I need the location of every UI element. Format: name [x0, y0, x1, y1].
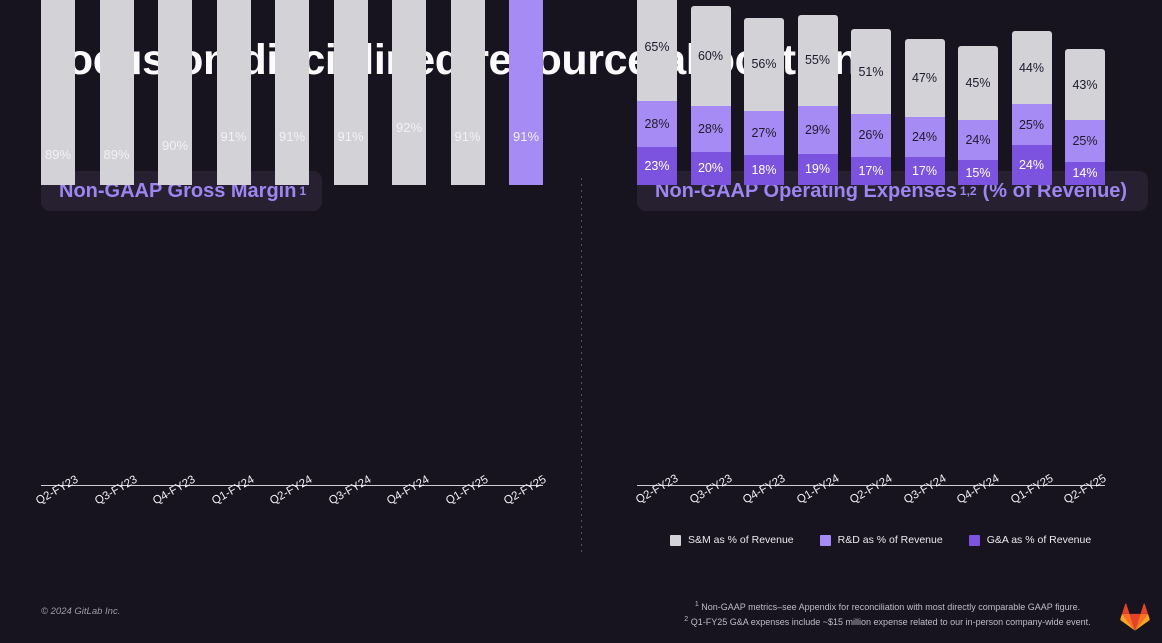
operating-expenses-segment: 24%	[1012, 145, 1052, 185]
operating-expenses-x-label: Q1-FY24	[795, 473, 841, 507]
operating-expenses-segment-value: 43%	[1072, 78, 1097, 92]
gross-margin-x-label: Q4-FY24	[385, 474, 431, 508]
operating-expenses-stacked-bar: 24%25%44%	[1012, 31, 1052, 185]
legend-item: G&A as % of Revenue	[969, 534, 1091, 546]
gross-margin-bar	[334, 0, 368, 185]
operating-expenses-segment-value: 17%	[858, 164, 883, 178]
footnote-text: Q1-FY25 G&A expenses include ~$15 millio…	[688, 617, 1090, 627]
right-chart-header-superscript: 1,2	[960, 184, 977, 198]
operating-expenses-segment: 17%	[851, 157, 891, 185]
gross-margin-bar-value: 91%	[438, 129, 498, 144]
operating-expenses-segment: 24%	[905, 117, 945, 157]
gitlab-tanuki-logo-icon	[1120, 603, 1150, 631]
gross-margin-x-label: Q2-FY23	[34, 474, 80, 508]
operating-expenses-segment-value: 25%	[1019, 118, 1044, 132]
gross-margin-x-label: Q2-FY24	[268, 474, 314, 508]
operating-expenses-x-label: Q1-FY25	[1009, 473, 1055, 507]
operating-expenses-segment-value: 28%	[644, 117, 669, 131]
operating-expenses-segment-value: 26%	[858, 128, 883, 142]
operating-expenses-segment: 51%	[851, 29, 891, 113]
footnote: 2 Q1-FY25 G&A expenses include ~$15 mill…	[660, 615, 1115, 630]
operating-expenses-stacked-bar: 23%28%65%	[637, 0, 677, 185]
operating-expenses-segment: 19%	[798, 154, 838, 185]
legend-item-label: S&M as % of Revenue	[688, 534, 794, 546]
operating-expenses-segment: 24%	[958, 120, 998, 160]
operating-expenses-segment-value: 14%	[1072, 166, 1097, 180]
operating-expenses-segment-value: 29%	[805, 123, 830, 137]
operating-expenses-segment: 25%	[1065, 120, 1105, 161]
footnotes: 1 Non-GAAP metrics–see Appendix for reco…	[660, 600, 1115, 629]
gross-margin-x-label: Q4-FY23	[151, 474, 197, 508]
operating-expenses-x-label: Q3-FY23	[688, 473, 734, 507]
operating-expenses-legend: S&M as % of RevenueR&D as % of RevenueG&…	[670, 534, 1091, 546]
operating-expenses-segment: 18%	[744, 155, 784, 185]
operating-expenses-x-label: Q3-FY24	[902, 473, 948, 507]
legend-swatch-icon	[820, 535, 831, 546]
operating-expenses-stacked-bar: 18%27%56%	[744, 18, 784, 185]
legend-item: S&M as % of Revenue	[670, 534, 794, 546]
gross-margin-bar-value: 91%	[321, 129, 381, 144]
legend-item-label: G&A as % of Revenue	[987, 534, 1091, 546]
copyright-text: © 2024 GitLab Inc.	[41, 606, 120, 617]
operating-expenses-segment-value: 24%	[1019, 158, 1044, 172]
operating-expenses-segment: 47%	[905, 39, 945, 117]
operating-expenses-segment-value: 28%	[698, 122, 723, 136]
gross-margin-x-label: Q3-FY24	[327, 474, 373, 508]
operating-expenses-segment-value: 60%	[698, 49, 723, 63]
operating-expenses-segment: 15%	[958, 160, 998, 185]
operating-expenses-stacked-bar: 20%28%60%	[691, 6, 731, 185]
gross-margin-bar	[392, 0, 426, 185]
operating-expenses-x-label: Q2-FY23	[634, 473, 680, 507]
gross-margin-bar-value: 92%	[379, 120, 439, 135]
legend-swatch-icon	[670, 535, 681, 546]
slide-canvas: Focus on disciplined resource allocation…	[0, 0, 1162, 643]
operating-expenses-segment: 25%	[1012, 104, 1052, 145]
operating-expenses-segment: 65%	[637, 0, 677, 101]
operating-expenses-stacked-bar: 17%24%47%	[905, 39, 945, 185]
operating-expenses-segment-value: 23%	[644, 159, 669, 173]
operating-expenses-segment: 55%	[798, 15, 838, 106]
operating-expenses-segment-value: 45%	[965, 76, 990, 90]
operating-expenses-stacked-bar: 15%24%45%	[958, 46, 998, 185]
legend-item-label: R&D as % of Revenue	[838, 534, 943, 546]
gross-margin-bar	[451, 0, 485, 185]
operating-expenses-segment: 43%	[1065, 49, 1105, 120]
gross-margin-chart: 89%89%90%91%91%91%92%91%91%Q2-FY23Q3-FY2…	[41, 236, 561, 536]
left-chart-header-superscript: 1	[299, 184, 306, 198]
operating-expenses-segment-value: 15%	[965, 166, 990, 180]
gross-margin-x-label: Q1-FY25	[444, 474, 490, 508]
operating-expenses-segment-value: 24%	[912, 130, 937, 144]
operating-expenses-segment: 14%	[1065, 162, 1105, 185]
gross-margin-bar	[509, 0, 543, 185]
operating-expenses-segment-value: 17%	[912, 164, 937, 178]
operating-expenses-segment: 20%	[691, 152, 731, 185]
operating-expenses-segment: 26%	[851, 114, 891, 157]
operating-expenses-segment: 28%	[691, 106, 731, 152]
operating-expenses-segment-value: 25%	[1072, 134, 1097, 148]
gross-margin-bar-value: 91%	[496, 129, 556, 144]
operating-expenses-segment-value: 44%	[1019, 61, 1044, 75]
footnote: 1 Non-GAAP metrics–see Appendix for reco…	[660, 600, 1115, 615]
operating-expenses-chart: 23%28%65%20%28%60%18%27%56%19%29%55%17%2…	[637, 236, 1137, 536]
operating-expenses-segment-value: 18%	[751, 163, 776, 177]
operating-expenses-segment: 45%	[958, 46, 998, 120]
legend-swatch-icon	[969, 535, 980, 546]
operating-expenses-segment-value: 51%	[858, 65, 883, 79]
operating-expenses-segment-value: 65%	[644, 40, 669, 54]
operating-expenses-segment-value: 55%	[805, 53, 830, 67]
operating-expenses-stacked-bar: 14%25%43%	[1065, 49, 1105, 185]
operating-expenses-segment: 56%	[744, 18, 784, 111]
operating-expenses-segment: 44%	[1012, 31, 1052, 104]
operating-expenses-segment: 23%	[637, 147, 677, 185]
operating-expenses-stacked-bar: 19%29%55%	[798, 15, 838, 185]
gross-margin-bar	[158, 0, 192, 185]
gross-margin-bar	[217, 0, 251, 185]
operating-expenses-segment: 27%	[744, 111, 784, 156]
operating-expenses-x-label: Q4-FY23	[741, 473, 787, 507]
operating-expenses-segment-value: 27%	[751, 126, 776, 140]
footnote-text: Non-GAAP metrics–see Appendix for reconc…	[699, 602, 1080, 612]
operating-expenses-segment-value: 56%	[751, 57, 776, 71]
operating-expenses-segment: 60%	[691, 6, 731, 105]
gross-margin-x-label: Q1-FY24	[210, 474, 256, 508]
operating-expenses-segment-value: 20%	[698, 161, 723, 175]
legend-item: R&D as % of Revenue	[820, 534, 943, 546]
operating-expenses-segment: 28%	[637, 101, 677, 147]
gross-margin-bar	[275, 0, 309, 185]
operating-expenses-segment-value: 24%	[965, 133, 990, 147]
operating-expenses-segment: 17%	[905, 157, 945, 185]
gross-margin-bar-value: 91%	[262, 129, 322, 144]
operating-expenses-x-label: Q2-FY24	[848, 473, 894, 507]
gross-margin-bar-value: 90%	[145, 138, 205, 153]
operating-expenses-stacked-bar: 17%26%51%	[851, 29, 891, 185]
panel-divider	[581, 178, 582, 552]
gross-margin-x-label: Q3-FY23	[93, 474, 139, 508]
gross-margin-bar-value: 91%	[204, 129, 264, 144]
operating-expenses-x-label: Q2-FY25	[1062, 473, 1108, 507]
gross-margin-x-label: Q2-FY25	[502, 474, 548, 508]
operating-expenses-segment: 29%	[798, 106, 838, 154]
right-chart-header-suffix: (% of Revenue)	[983, 180, 1127, 203]
operating-expenses-x-label: Q4-FY24	[955, 473, 1001, 507]
gross-margin-bar-value: 89%	[87, 147, 147, 162]
gross-margin-bar-value: 89%	[28, 147, 88, 162]
operating-expenses-segment-value: 47%	[912, 71, 937, 85]
operating-expenses-segment-value: 19%	[805, 162, 830, 176]
